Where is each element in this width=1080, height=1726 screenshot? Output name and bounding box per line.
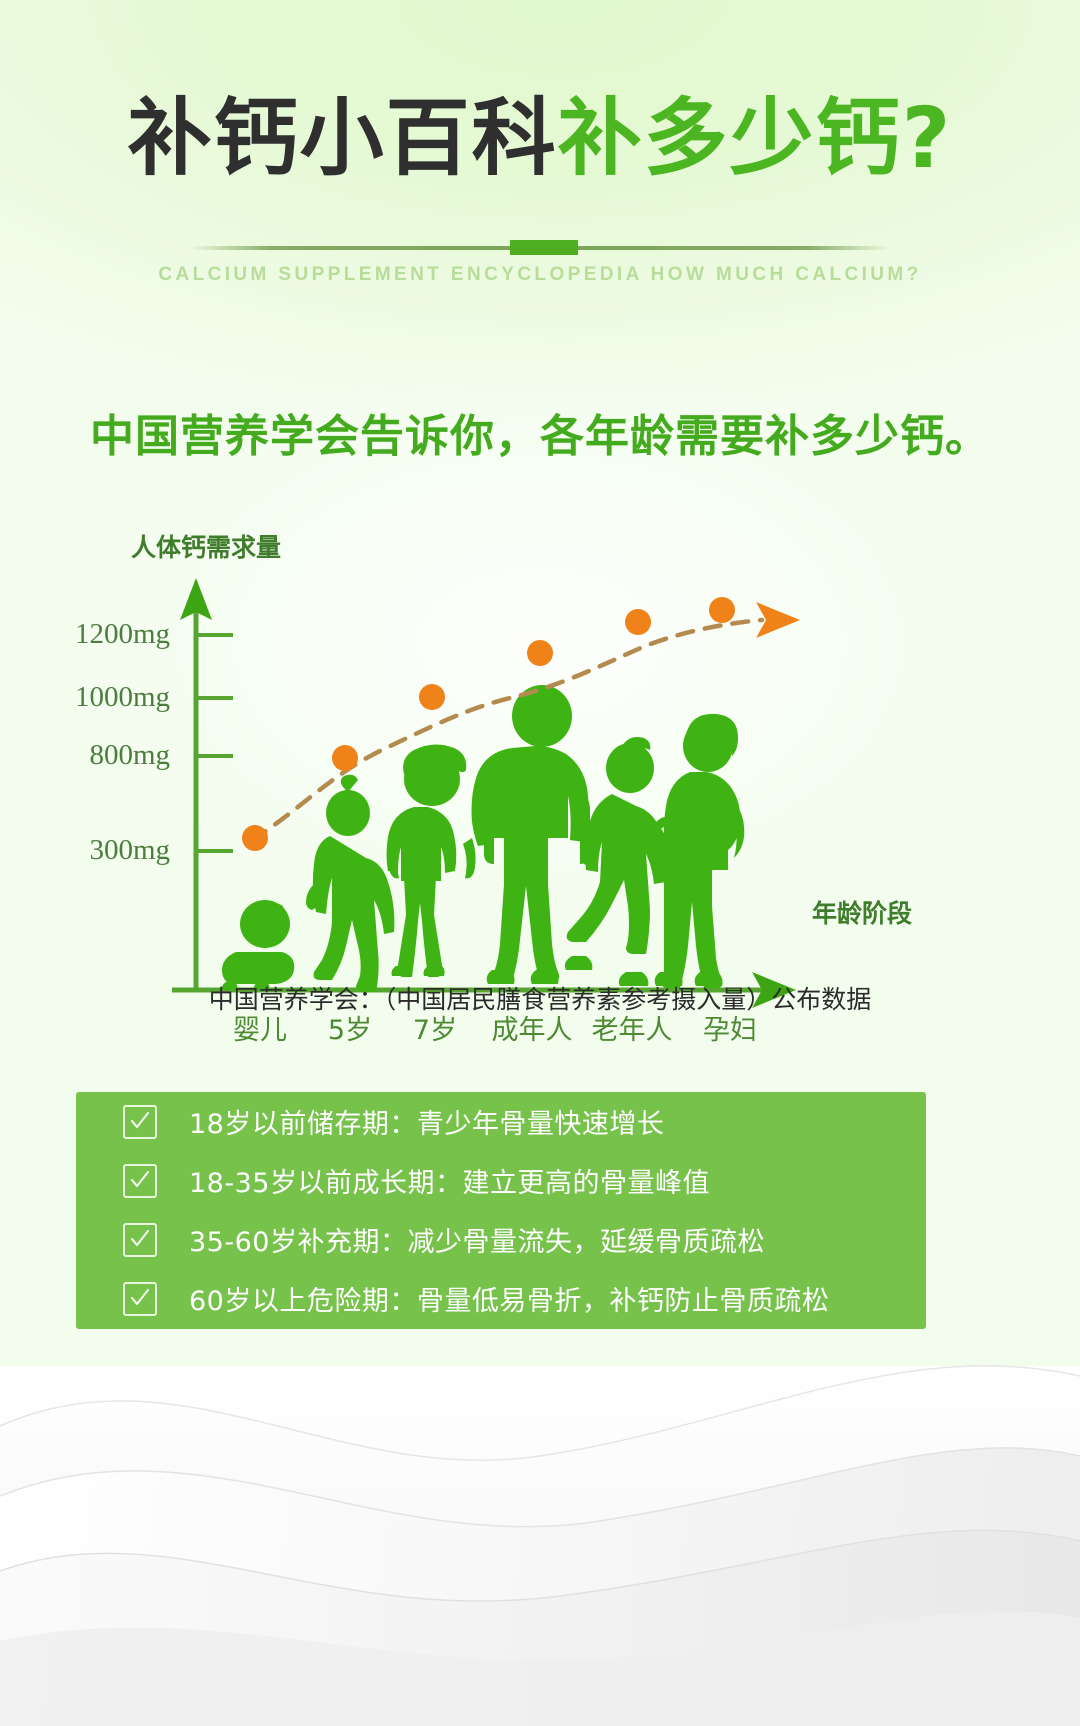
chart-source-caption: 中国营养学会：（中国居民膳食营养素参考摄入量）公布数据 xyxy=(0,980,1080,1016)
title-green-part: 补多少钙? xyxy=(558,89,953,187)
checklist-item-label: 60岁以上危险期：骨量低易骨折，补钙防止骨质疏松 xyxy=(189,1279,829,1318)
checklist-item-label: 18-35岁以前成长期：建立更高的骨量峰值 xyxy=(189,1161,710,1200)
silhouette-age7 xyxy=(387,744,476,977)
poster-root: 补钙小百科补多少钙? CALCIUM SUPPLEMENT ENCYCLOPED… xyxy=(0,0,1080,1726)
checklist-item-label: 18岁以前储存期：青少年骨量快速增长 xyxy=(189,1102,664,1141)
y-axis xyxy=(180,578,212,990)
check-icon xyxy=(123,1282,157,1316)
list-item[interactable]: 35-60岁补充期：减少骨量流失，延缓骨质疏松 xyxy=(76,1210,926,1269)
title-dark-part: 补钙小百科 xyxy=(128,89,558,187)
checklist-item-label: 35-60岁补充期：减少骨量流失，延缓骨质疏松 xyxy=(189,1220,765,1259)
y-tick-label-1000: 1000mg xyxy=(0,681,170,714)
age-silhouettes xyxy=(222,685,744,992)
y-tick-label-800: 800mg xyxy=(0,739,170,772)
title-divider-accent xyxy=(510,240,578,255)
subtitle-english: CALCIUM SUPPLEMENT ENCYCLOPEDIA HOW MUCH… xyxy=(0,264,1080,286)
section-heading: 中国营养学会告诉你，各年龄需要补多少钙。 xyxy=(0,400,1080,464)
y-tick-label-300: 300mg xyxy=(0,834,170,867)
y-tick-label-1200: 1200mg xyxy=(0,618,170,651)
silhouette-age5 xyxy=(306,775,394,992)
list-item[interactable]: 60岁以上危险期：骨量低易骨折，补钙防止骨质疏松 xyxy=(76,1269,926,1328)
list-item[interactable]: 18-35岁以前成长期：建立更高的骨量峰值 xyxy=(76,1151,926,1210)
check-icon xyxy=(123,1223,157,1257)
y-axis-ticks xyxy=(196,635,233,851)
check-icon xyxy=(123,1164,157,1198)
checklist-panel: 18岁以前储存期：青少年骨量快速增长 18-35岁以前成长期：建立更高的骨量峰值… xyxy=(76,1092,926,1329)
list-item[interactable]: 18岁以前储存期：青少年骨量快速增长 xyxy=(76,1092,926,1151)
silhouette-infant xyxy=(222,900,294,990)
page-title: 补钙小百科补多少钙? xyxy=(0,96,1080,180)
wave-decoration xyxy=(0,1306,1080,1726)
check-icon xyxy=(123,1105,157,1139)
